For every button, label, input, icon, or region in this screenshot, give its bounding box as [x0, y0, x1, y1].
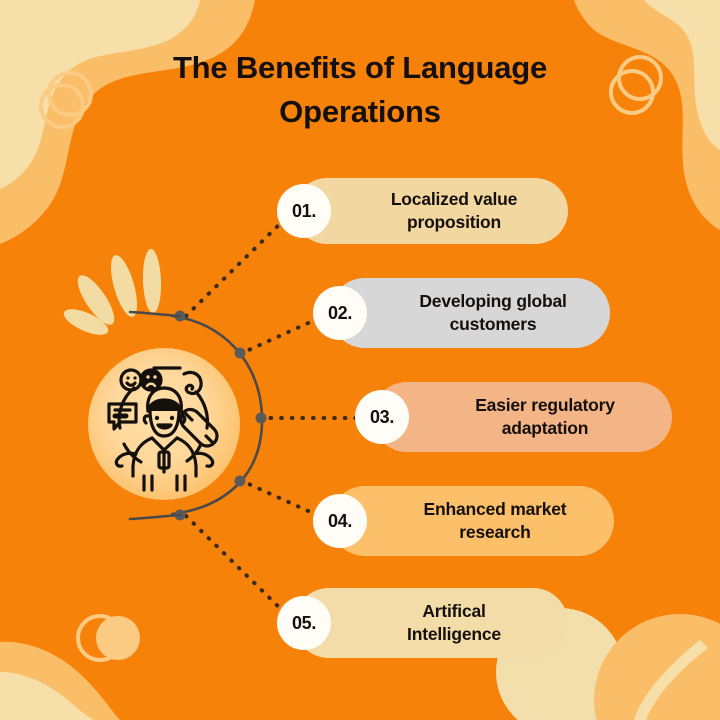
benefit-number-4[interactable]: 04. [313, 494, 367, 548]
benefit-label-4-line-2: research [459, 522, 530, 542]
blob-top-right-inner [644, 0, 720, 150]
benefit-label-2-line-1: Developing global [419, 291, 566, 311]
benefit-number-3[interactable]: 03. [355, 390, 409, 444]
benefit-pill-2[interactable]: Developing global customers [330, 278, 610, 348]
benefit-label-1-line-2: proposition [407, 212, 501, 232]
ring-top-right-b [611, 71, 653, 113]
page-title-line-1: The Benefits of Language [110, 46, 610, 90]
arc-node-1 [175, 311, 186, 322]
benefit-label-3-line-1: Easier regulatory [475, 395, 615, 415]
blob-bottom-left-inner [0, 672, 94, 720]
benefit-label-2-line-2: customers [450, 314, 537, 334]
dotted-line-item-5 [186, 516, 292, 620]
center-medallion [88, 348, 240, 500]
ring-top-left-a [49, 73, 91, 115]
arc-node-3 [256, 413, 267, 424]
blob-swoosh-bottom-right [634, 640, 708, 720]
customer-support-person-icon [88, 348, 240, 500]
arc-node-5 [175, 510, 186, 521]
dotted-line-item-1 [186, 212, 292, 316]
benefit-label-3: Easier regulatory adaptation [411, 394, 633, 441]
infographic-canvas: The Benefits of Language Operations [0, 0, 720, 720]
benefit-number-2[interactable]: 02. [313, 286, 367, 340]
benefit-label-1-line-1: Localized value [391, 189, 517, 209]
ring-top-right-a [619, 57, 661, 99]
benefit-label-5: Artifical Intelligence [343, 600, 519, 647]
blob-circle-bottom-right-orange [594, 614, 720, 720]
benefit-label-1: Localized value proposition [327, 188, 535, 235]
benefit-label-2: Developing global customers [355, 290, 584, 337]
page-title-line-2: Operations [110, 90, 610, 134]
benefit-label-5-line-1: Artifical [422, 601, 485, 621]
arc-tail-top [130, 312, 180, 316]
benefit-pill-4[interactable]: Enhanced market research [330, 486, 614, 556]
ring-top-left-b [41, 85, 83, 127]
page-title: The Benefits of Language Operations [110, 46, 610, 134]
arc-tail-bottom [130, 515, 180, 519]
benefit-label-4: Enhanced market research [360, 498, 585, 545]
circle-bottom-left-filled [96, 616, 140, 660]
benefit-label-4-line-1: Enhanced market [424, 499, 567, 519]
benefit-pill-5[interactable]: Artifical Intelligence [294, 588, 568, 658]
benefit-number-5[interactable]: 05. [277, 596, 331, 650]
ring-bottom-left [78, 616, 122, 660]
benefit-label-3-line-2: adaptation [502, 418, 588, 438]
benefit-number-1[interactable]: 01. [277, 184, 331, 238]
benefit-pill-1[interactable]: Localized value proposition [294, 178, 568, 244]
petal-fan-decoration [60, 249, 162, 340]
benefit-pill-3[interactable]: Easier regulatory adaptation [372, 382, 672, 452]
blob-bottom-left [0, 642, 120, 720]
benefit-label-5-line-2: Intelligence [407, 624, 501, 644]
